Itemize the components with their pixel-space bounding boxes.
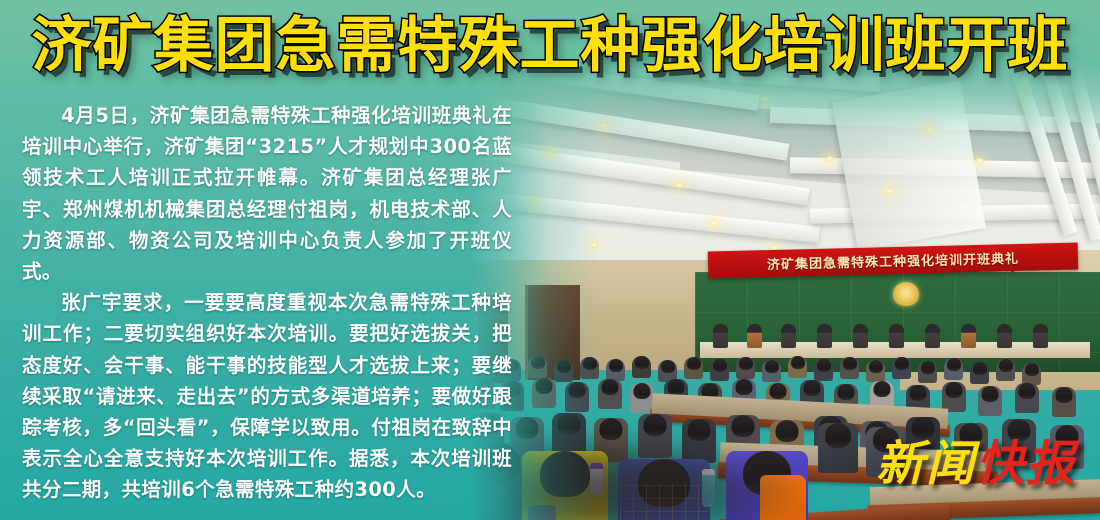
- seated-official: [925, 324, 940, 348]
- head-table-row: [705, 322, 1085, 348]
- ceiling-spotlight: [885, 188, 894, 194]
- event-banner-text: 济矿集团急需特殊工种强化培训开班典礼: [767, 248, 1019, 273]
- audience-member: [736, 357, 755, 379]
- audience-member: [532, 378, 556, 408]
- ceiling-spotlight: [710, 220, 719, 226]
- article-body: 4月5日，济矿集团急需特殊工种强化培训班典礼在培训中心举行，济矿集团“3215”…: [22, 100, 512, 506]
- news-watermark: 新闻快报: [876, 424, 1076, 494]
- ceiling-spotlight: [600, 122, 609, 128]
- audience-member: [606, 359, 625, 381]
- ceiling-spotlight: [925, 125, 934, 131]
- ceiling-beam: [832, 80, 986, 250]
- seated-official: [997, 324, 1012, 348]
- foreground-blur: [470, 435, 800, 520]
- audience-member: [970, 362, 989, 384]
- ceiling-spotlight: [1018, 90, 1027, 96]
- audience-member: [814, 359, 833, 381]
- audience-member: [762, 360, 781, 382]
- audience-member: [944, 358, 963, 380]
- seated-official: [781, 324, 796, 348]
- ceiling-spotlight: [530, 200, 539, 206]
- ceiling-spotlight: [545, 150, 554, 156]
- article-paragraph-2: 张广宇要求，一要要高度重视本次急需特殊工种培训工作；二要切实组织好本次培训。要把…: [22, 287, 512, 505]
- ceiling-spotlight: [590, 242, 599, 248]
- audience-member: [1015, 383, 1039, 413]
- seated-official: [713, 324, 728, 348]
- ceiling-spotlight: [975, 158, 984, 164]
- ceiling-spotlight: [675, 182, 684, 188]
- audience-member: [1022, 363, 1041, 385]
- company-emblem-icon: [893, 282, 919, 306]
- ceiling-spotlight: [760, 96, 769, 102]
- audience-member: [818, 423, 858, 473]
- watermark-text-red: 快报: [976, 436, 1076, 492]
- seated-official: [747, 324, 762, 348]
- news-banner-canvas: 济矿集团急需特殊工种强化培训开班典礼: [0, 0, 1100, 520]
- seated-official: [817, 324, 832, 348]
- audience-member: [684, 357, 703, 379]
- audience-member: [528, 356, 547, 378]
- audience-member: [554, 360, 573, 382]
- audience-member: [840, 357, 859, 379]
- audience-member: [918, 361, 937, 383]
- seated-official: [853, 324, 868, 348]
- audience-member: [1052, 387, 1076, 417]
- seated-official: [961, 324, 976, 348]
- watermark-text-yellow: 新闻: [876, 436, 976, 492]
- audience-member: [598, 379, 622, 409]
- audience-member: [942, 382, 966, 412]
- audience-member: [580, 357, 599, 379]
- audience-member: [978, 386, 1002, 416]
- seated-official: [889, 324, 904, 348]
- audience-member: [632, 356, 651, 378]
- seated-official: [1033, 324, 1048, 348]
- audience-member: [866, 360, 885, 382]
- page-title: 济矿集团急需特殊工种强化培训班开班: [0, 12, 1100, 81]
- audience-member: [892, 357, 911, 379]
- audience-member: [565, 382, 589, 412]
- ceiling-spotlight: [825, 156, 834, 162]
- audience-member: [710, 359, 729, 381]
- audience-member: [996, 359, 1015, 381]
- audience-member: [788, 356, 807, 378]
- article-paragraph-1: 4月5日，济矿集团急需特殊工种强化培训班典礼在培训中心举行，济矿集团“3215”…: [22, 100, 512, 287]
